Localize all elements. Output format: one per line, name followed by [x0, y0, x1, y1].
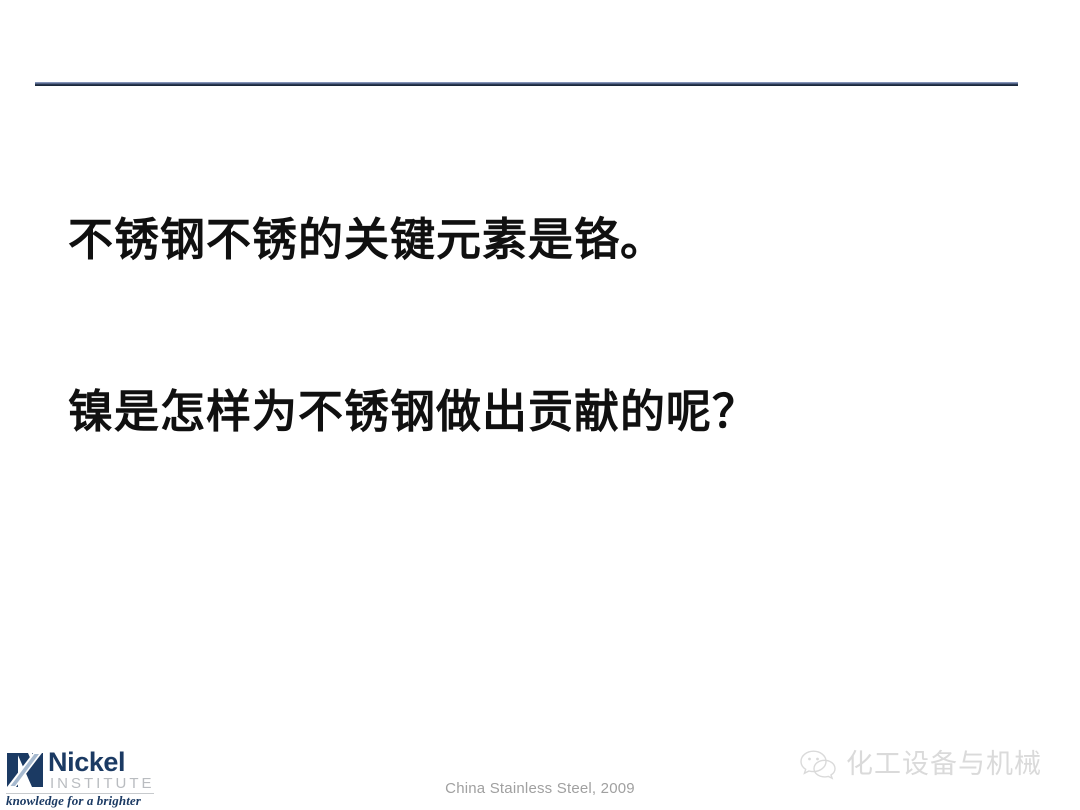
logo-wordmark: Nickel — [48, 748, 125, 776]
source-citation: China Stainless Steel, 2009 — [0, 780, 1080, 797]
header-divider-rule — [35, 82, 1018, 86]
watermark-label: 化工设备与机械 — [846, 750, 1042, 780]
wechat-icon — [798, 748, 838, 782]
nickel-institute-logo: Nickel INSTITUTE knowledge for a brighte… — [4, 748, 164, 806]
slide-body-line-2: 镍是怎样为不锈钢做出贡献的呢？ — [68, 388, 758, 435]
wechat-watermark: 化工设备与机械 — [798, 748, 1042, 782]
presentation-slide: 不锈钢不锈的关键元素是铬。 镍是怎样为不锈钢做出贡献的呢？ Nickel INS… — [0, 0, 1080, 810]
slide-body-line-1: 不锈钢不锈的关键元素是铬。 — [68, 216, 666, 263]
